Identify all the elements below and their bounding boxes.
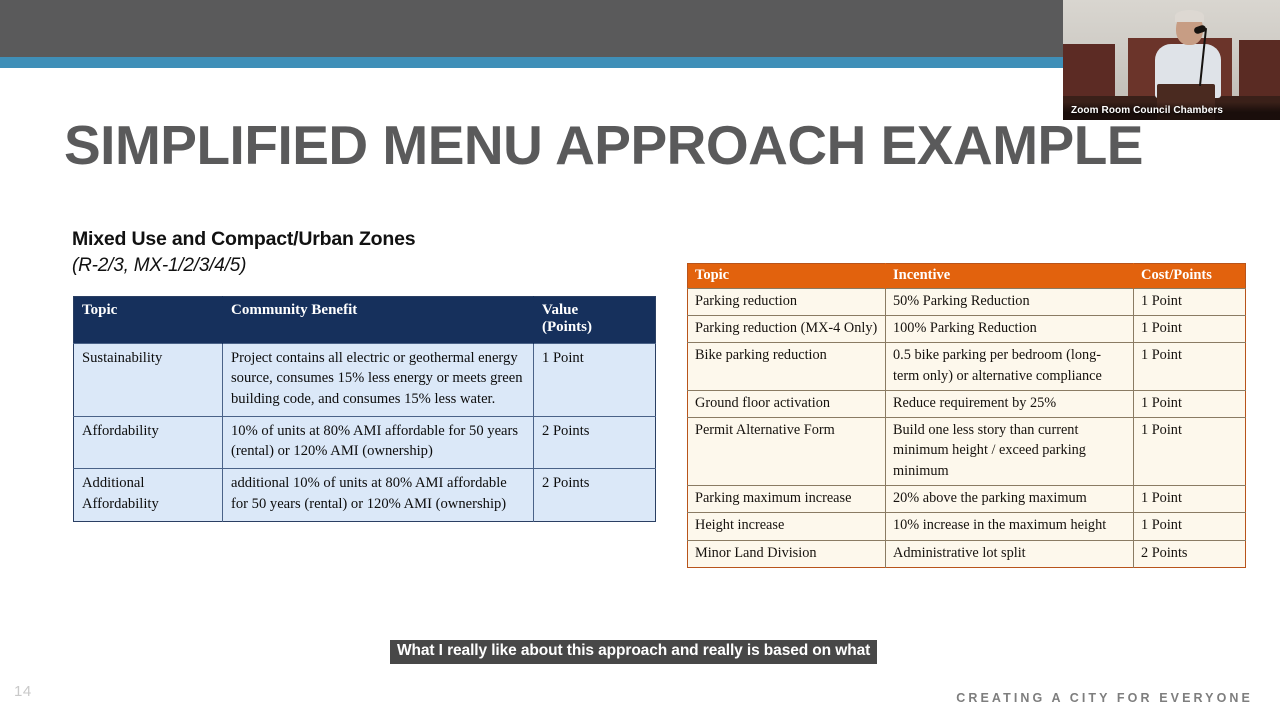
cell-benefit: Project contains all electric or geother… (223, 343, 534, 416)
header-band-gray (0, 0, 1064, 57)
value-header-line1: Value (542, 302, 578, 318)
table-row: Minor Land Division Administrative lot s… (688, 540, 1246, 567)
video-speaker-hair (1175, 10, 1204, 22)
table-row: Height increase 10% increase in the maxi… (688, 513, 1246, 540)
cell-cost: 1 Point (1134, 418, 1246, 486)
column-header-community-benefit: Community Benefit (223, 297, 534, 344)
cell-topic: Parking reduction (688, 288, 886, 315)
cell-topic: Additional Affordability (74, 469, 223, 521)
column-header-value-points: Value (Points) (534, 297, 656, 344)
table-row: Sustainability Project contains all elec… (74, 343, 656, 416)
community-benefits-table: Topic Community Benefit Value (Points) S… (73, 296, 656, 522)
table-header-row: Topic Community Benefit Value (Points) (74, 297, 656, 344)
table-row: Bike parking reduction 0.5 bike parking … (688, 343, 1246, 391)
value-header-line2: (Points) (542, 319, 592, 335)
closed-caption-bar: What I really like about this approach a… (390, 640, 877, 664)
table-row: Affordability 10% of units at 80% AMI af… (74, 416, 656, 468)
cell-incentive: Build one less story than current minimu… (886, 418, 1134, 486)
header-band-accent (0, 57, 1064, 68)
table-row: Parking maximum increase 20% above the p… (688, 486, 1246, 513)
cell-cost: 1 Point (1134, 288, 1246, 315)
cell-incentive: Reduce requirement by 25% (886, 390, 1134, 417)
subtitle-block: Mixed Use and Compact/Urban Zones (R-2/3… (72, 227, 415, 279)
table-row: Permit Alternative Form Build one less s… (688, 418, 1246, 486)
cell-value: 2 Points (534, 469, 656, 521)
cell-cost: 1 Point (1134, 486, 1246, 513)
table-row: Additional Affordability additional 10% … (74, 469, 656, 521)
cell-cost: 1 Point (1134, 315, 1246, 342)
cell-incentive: 0.5 bike parking per bedroom (long-term … (886, 343, 1134, 391)
cell-cost: 1 Point (1134, 390, 1246, 417)
video-thumbnail[interactable]: Zoom Room Council Chambers (1063, 0, 1280, 120)
cell-topic: Ground floor activation (688, 390, 886, 417)
cell-incentive: 10% increase in the maximum height (886, 513, 1134, 540)
cell-benefit: 10% of units at 80% AMI affordable for 5… (223, 416, 534, 468)
cell-cost: 1 Point (1134, 343, 1246, 391)
footer-tagline: CREATING A CITY FOR EVERYONE (956, 691, 1253, 705)
cell-value: 1 Point (534, 343, 656, 416)
cell-topic: Parking reduction (MX-4 Only) (688, 315, 886, 342)
table-row: Parking reduction (MX-4 Only) 100% Parki… (688, 315, 1246, 342)
cell-value: 2 Points (534, 416, 656, 468)
cell-topic: Sustainability (74, 343, 223, 416)
cell-incentive: Administrative lot split (886, 540, 1134, 567)
subtitle-zone-codes: (R-2/3, MX-1/2/3/4/5) (72, 254, 415, 279)
cell-topic: Permit Alternative Form (688, 418, 886, 486)
cell-benefit: additional 10% of units at 80% AMI affor… (223, 469, 534, 521)
cell-incentive: 20% above the parking maximum (886, 486, 1134, 513)
subtitle-heading: Mixed Use and Compact/Urban Zones (72, 227, 415, 251)
column-header-topic: Topic (688, 264, 886, 289)
page-number: 14 (14, 683, 32, 700)
cell-topic: Parking maximum increase (688, 486, 886, 513)
incentives-table: Topic Incentive Cost/Points Parking redu… (687, 263, 1246, 568)
cell-topic: Bike parking reduction (688, 343, 886, 391)
cell-topic: Affordability (74, 416, 223, 468)
cell-incentive: 50% Parking Reduction (886, 288, 1134, 315)
cell-topic: Minor Land Division (688, 540, 886, 567)
table-row: Parking reduction 50% Parking Reduction … (688, 288, 1246, 315)
cell-cost: 2 Points (1134, 540, 1246, 567)
column-header-cost-points: Cost/Points (1134, 264, 1246, 289)
table-row: Ground floor activation Reduce requireme… (688, 390, 1246, 417)
page-title: SIMPLIFIED MENU APPROACH EXAMPLE (64, 118, 1143, 173)
column-header-topic: Topic (74, 297, 223, 344)
cell-topic: Height increase (688, 513, 886, 540)
cell-cost: 1 Point (1134, 513, 1246, 540)
column-header-incentive: Incentive (886, 264, 1134, 289)
cell-incentive: 100% Parking Reduction (886, 315, 1134, 342)
table-header-row: Topic Incentive Cost/Points (688, 264, 1246, 289)
